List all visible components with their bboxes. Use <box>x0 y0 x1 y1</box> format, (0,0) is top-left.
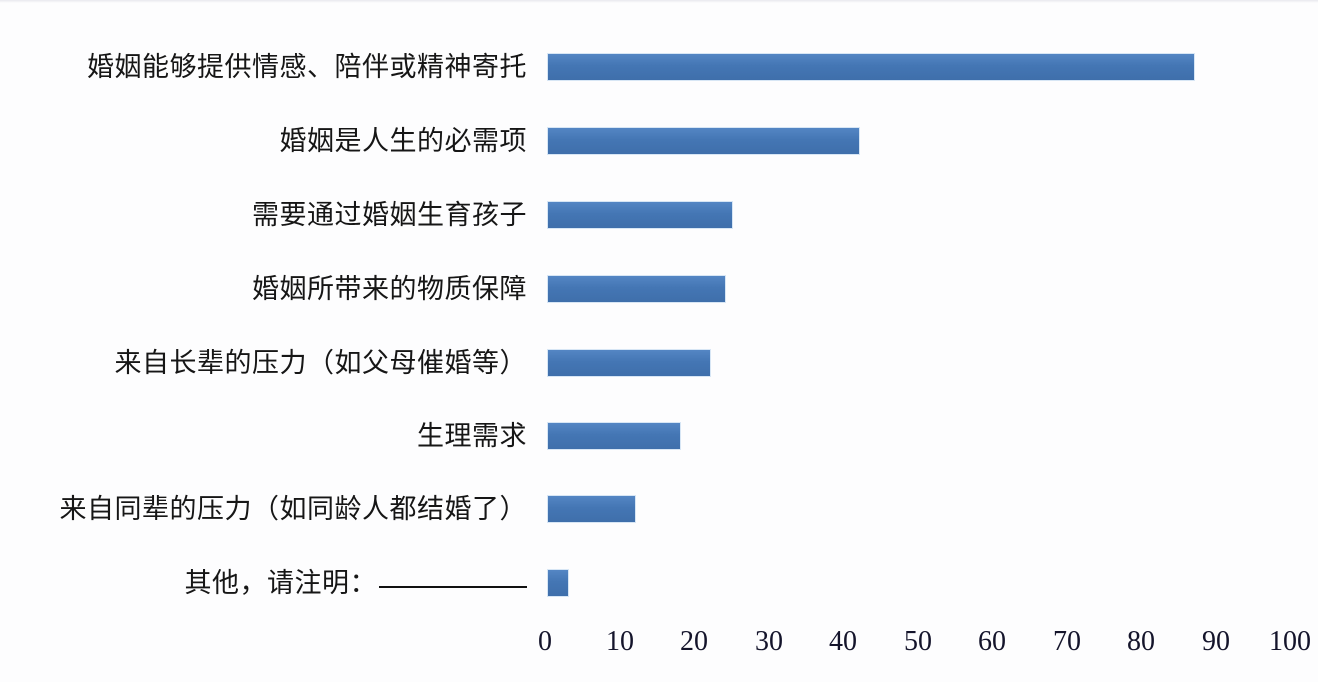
x-axis-tick: 0 <box>538 626 552 658</box>
x-axis-tick: 60 <box>978 626 1006 658</box>
category-label: 婚姻是人生的必需项 <box>7 126 527 156</box>
bar-row: 生理需求 <box>0 399 1318 473</box>
bar-segment <box>547 349 711 377</box>
x-axis-tick: 100 <box>1269 626 1311 658</box>
bar-row: 婚姻所带来的物质保障 <box>0 252 1318 326</box>
bar-row: 需要通过婚姻生育孩子 <box>0 178 1318 252</box>
x-axis-tick: 10 <box>606 626 634 658</box>
category-label: 需要通过婚姻生育孩子 <box>7 200 527 230</box>
bar-row: 来自同辈的压力（如同龄人都结婚了） <box>0 472 1318 546</box>
category-label: 生理需求 <box>7 421 527 451</box>
x-axis-tick: 80 <box>1127 626 1155 658</box>
category-label: 来自同辈的压力（如同龄人都结婚了） <box>7 494 527 524</box>
x-axis-tick: 50 <box>904 626 932 658</box>
x-axis-tick: 70 <box>1053 626 1081 658</box>
category-label-with-blank: 其他，请注明： <box>7 568 527 598</box>
horizontal-bar-chart: 婚姻能够提供情感、陪伴或精神寄托 婚姻是人生的必需项 需要通过婚姻生育孩子 婚姻… <box>0 0 1318 682</box>
bar-row: 其他，请注明： <box>0 546 1318 620</box>
bar-segment <box>547 275 726 303</box>
bar-segment <box>547 422 681 450</box>
x-axis: 0 10 20 30 40 50 60 70 80 90 100 <box>0 612 1318 672</box>
bar-segment <box>547 127 860 155</box>
category-label: 婚姻所带来的物质保障 <box>7 274 527 304</box>
category-label: 来自长辈的压力（如父母催婚等） <box>7 348 527 378</box>
plot-area: 婚姻能够提供情感、陪伴或精神寄托 婚姻是人生的必需项 需要通过婚姻生育孩子 婚姻… <box>0 0 1318 612</box>
x-axis-tick: 20 <box>680 626 708 658</box>
bar-segment <box>547 569 569 597</box>
category-label-text: 其他，请注明： <box>185 568 378 598</box>
fill-in-blank-line <box>379 586 527 588</box>
bar-segment <box>547 201 733 229</box>
bar-row: 婚姻能够提供情感、陪伴或精神寄托 <box>0 30 1318 104</box>
x-axis-tick: 90 <box>1202 626 1230 658</box>
bar-segment <box>547 495 636 523</box>
x-axis-tick: 30 <box>755 626 783 658</box>
bar-row: 婚姻是人生的必需项 <box>0 104 1318 178</box>
bar-row: 来自长辈的压力（如父母催婚等） <box>0 326 1318 400</box>
bar-segment <box>547 53 1195 81</box>
category-label: 婚姻能够提供情感、陪伴或精神寄托 <box>7 52 527 82</box>
x-axis-tick: 40 <box>829 626 857 658</box>
